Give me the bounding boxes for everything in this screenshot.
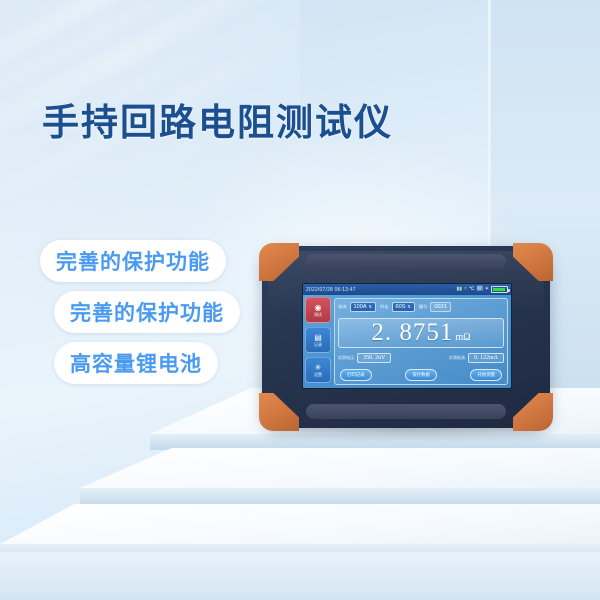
sidebar-item-test[interactable]: ◉ 测试 (305, 297, 331, 323)
stepper-icon[interactable]: ⇅ (369, 305, 372, 309)
wifi-icon: ≈ (464, 287, 467, 292)
parameter-row: 电流: 100A ⇅ 时长: 60S ⇅ 编号: (338, 302, 504, 312)
resistance-value: 2. 8751 (371, 320, 453, 346)
podium-slab-middle (80, 448, 600, 488)
status-datetime: 2022/07/28 06:13:47 (306, 287, 356, 293)
serial-value-box: 0021 (430, 302, 450, 312)
screen-sidebar: ◉ 测试 ▤ 记录 ✳ 设置 (305, 297, 331, 383)
sidebar-item-label: 测试 (314, 313, 322, 317)
print-record-button[interactable]: 打印记录 (340, 369, 372, 381)
sidebar-item-label: 记录 (314, 343, 322, 347)
measurement-panel: 电流: 100A ⇅ 时长: 60S ⇅ 编号: (334, 298, 508, 385)
screen-button-row: 打印记录 保存数据 开始测量 (338, 369, 504, 381)
duration-value: 60S (396, 304, 406, 310)
parameter-serial: 编号: 0021 (419, 302, 451, 312)
device-grip-top (306, 254, 506, 269)
status-tray: ▮▮ ≈ ℃ 🗓 ✶ (457, 286, 508, 293)
record-document-icon: ▤ (314, 334, 322, 342)
status-bar: 2022/07/28 06:13:47 ▮▮ ≈ ℃ 🗓 ✶ (303, 284, 511, 295)
secondary-readings: 实测电压: 350. 2uV 实测电流: 0. 122mA (338, 353, 504, 363)
start-measure-button[interactable]: 开始测量 (470, 369, 502, 381)
measured-voltage-label: 实测电压: (338, 355, 355, 361)
parameter-label: 电流: (338, 304, 348, 310)
measured-current: 实测电流: 0. 122mA (449, 353, 504, 363)
resistance-unit: mΩ (455, 332, 470, 343)
calendar-icon: 🗓 (476, 287, 482, 292)
current-select[interactable]: 100A ⇅ (350, 302, 376, 312)
measured-current-label: 实测电流: (449, 355, 466, 361)
bluetooth-icon: ✶ (485, 287, 489, 292)
signal-icon: ▮▮ (457, 287, 463, 292)
feature-pill-list: 完善的保护功能 完善的保护功能 高容量锂电池 (40, 240, 240, 393)
podium-slab-front (0, 504, 600, 544)
measured-voltage: 实测电压: 350. 2uV (338, 353, 391, 363)
feature-pill: 完善的保护功能 (54, 291, 240, 333)
parameter-duration: 时长: 60S ⇅ (380, 302, 415, 312)
parameter-label: 编号: (419, 304, 429, 310)
power-test-icon: ◉ (315, 304, 322, 312)
podium-floor (0, 552, 600, 600)
poster-canvas: 手持回路电阻测试仪 完善的保护功能 完善的保护功能 高容量锂电池 2022/07… (0, 0, 600, 600)
measured-voltage-value: 350. 2uV (357, 353, 391, 363)
stepper-icon[interactable]: ⇅ (407, 305, 410, 309)
parameter-current: 电流: 100A ⇅ (338, 302, 376, 312)
duration-select[interactable]: 60S ⇅ (392, 302, 415, 312)
device-screen[interactable]: 2022/07/28 06:13:47 ▮▮ ≈ ℃ 🗓 ✶ ◉ 测试 ▤ (302, 283, 512, 389)
battery-icon (491, 286, 508, 293)
feature-pill: 高容量锂电池 (54, 342, 218, 384)
gear-settings-icon: ✳ (315, 364, 322, 372)
sidebar-item-settings[interactable]: ✳ 设置 (305, 357, 331, 383)
sidebar-item-label: 设置 (314, 373, 322, 377)
current-value: 100A (354, 304, 367, 310)
temperature-icon: ℃ (469, 287, 475, 292)
parameter-label: 时长: (380, 304, 390, 310)
feature-pill: 完善的保护功能 (40, 240, 226, 282)
page-title: 手持回路电阻测试仪 (42, 92, 393, 146)
device-grip-bottom (306, 404, 506, 419)
measured-current-value: 0. 122mA (468, 353, 504, 363)
serial-value: 0021 (434, 304, 446, 310)
primary-reading: 2. 8751 mΩ (338, 318, 504, 348)
sidebar-item-record[interactable]: ▤ 记录 (305, 327, 331, 353)
save-data-button[interactable]: 保存数据 (405, 369, 437, 381)
handheld-loop-resistance-tester: 2022/07/28 06:13:47 ▮▮ ≈ ℃ 🗓 ✶ ◉ 测试 ▤ (262, 246, 550, 428)
